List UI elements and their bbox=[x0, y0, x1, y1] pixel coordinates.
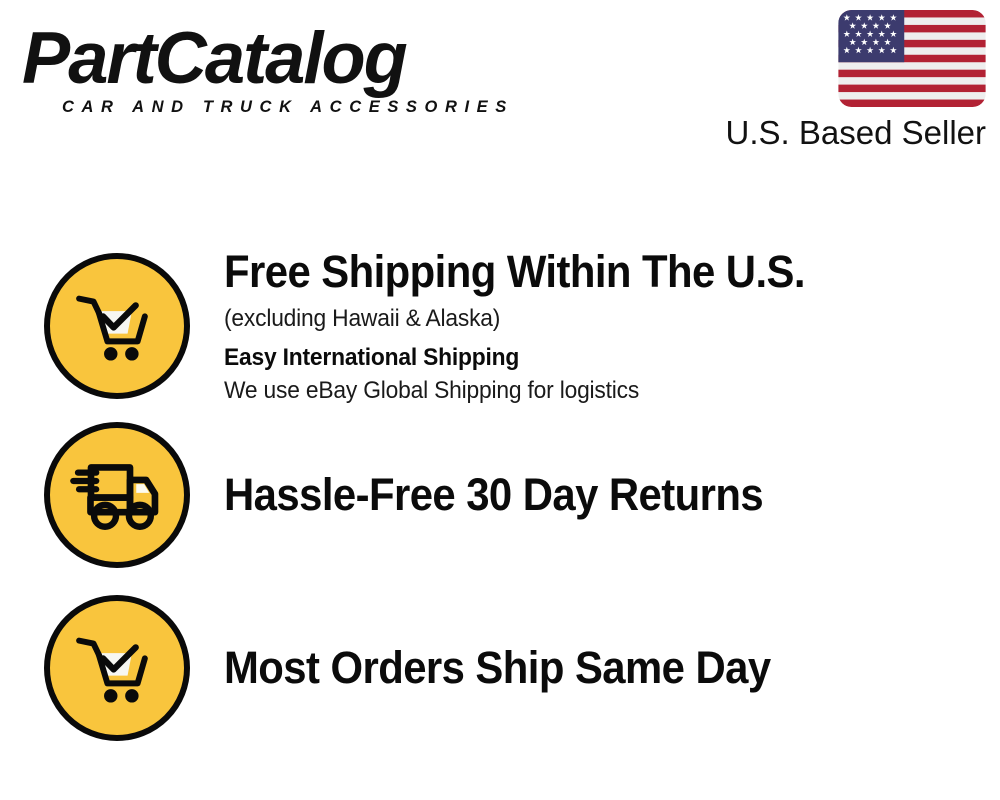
us-based-seller-badge: U.S. Based Seller bbox=[656, 10, 986, 152]
feature-text-block: Free Shipping Within The U.S. (excluding… bbox=[224, 246, 1000, 407]
feature-row: Hassle-Free 30 Day Returns bbox=[0, 421, 1000, 569]
feature-subline: (excluding Hawaii & Alaska) bbox=[224, 302, 942, 335]
feature-headline: Free Shipping Within The U.S. bbox=[224, 246, 927, 298]
shopping-cart-check-icon bbox=[69, 620, 165, 716]
feature-icon-badge bbox=[44, 253, 190, 399]
feature-row: Free Shipping Within The U.S. (excluding… bbox=[0, 251, 1000, 401]
feature-text-block: Hassle-Free 30 Day Returns bbox=[224, 469, 1000, 521]
shopping-cart-check-icon bbox=[69, 278, 165, 374]
brand-tagline: CAR AND TRUCK ACCESSORIES bbox=[62, 98, 514, 116]
feature-icon-badge bbox=[44, 595, 190, 741]
brand-wordmark: PartCatalog bbox=[22, 22, 406, 95]
feature-subline: Easy International Shipping bbox=[224, 341, 942, 374]
feature-icon-badge bbox=[44, 422, 190, 568]
feature-headline: Most Orders Ship Same Day bbox=[224, 642, 927, 694]
us-flag-icon bbox=[838, 10, 986, 107]
brand-logo: PartCatalog CAR AND TRUCK ACCESSORIES bbox=[22, 22, 492, 112]
banner-header: PartCatalog CAR AND TRUCK ACCESSORIES bbox=[0, 0, 1000, 175]
feature-headline: Hassle-Free 30 Day Returns bbox=[224, 469, 927, 521]
feature-text-block: Most Orders Ship Same Day bbox=[224, 642, 1000, 694]
promo-banner: PartCatalog CAR AND TRUCK ACCESSORIES bbox=[0, 0, 1000, 800]
seller-location-label: U.S. Based Seller bbox=[656, 114, 986, 152]
delivery-truck-icon bbox=[65, 443, 169, 547]
feature-subline: We use eBay Global Shipping for logistic… bbox=[224, 374, 942, 407]
feature-row: Most Orders Ship Same Day bbox=[0, 593, 1000, 743]
